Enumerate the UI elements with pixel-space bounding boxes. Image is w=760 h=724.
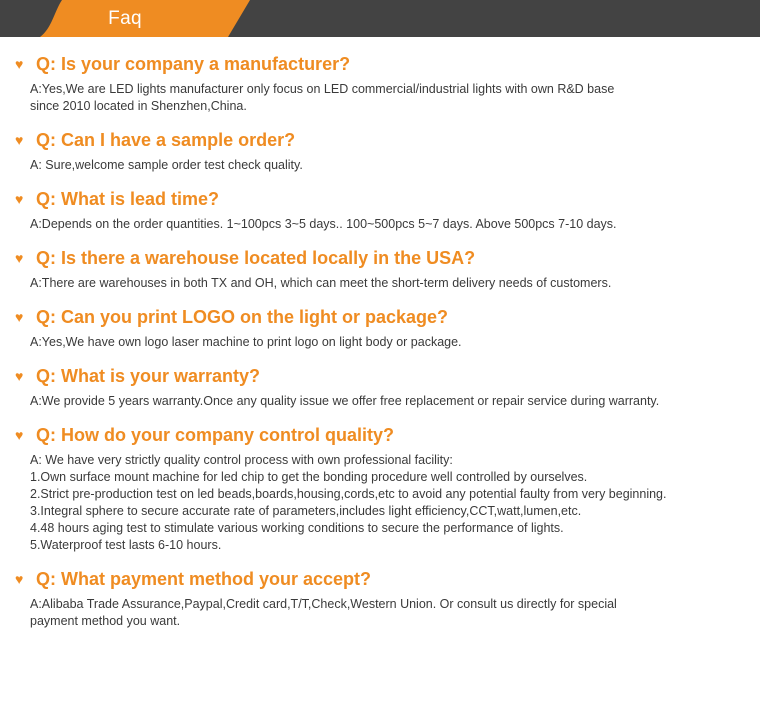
faq-question: Q: Can you print LOGO on the light or pa…: [36, 306, 448, 328]
answer-line: A:Yes,We are LED lights manufacturer onl…: [30, 81, 746, 98]
answer-line: A:Yes,We have own logo laser machine to …: [30, 334, 746, 351]
spacer: [0, 351, 760, 365]
spacer: [0, 554, 760, 568]
faq-item: ♥ Q: Can you print LOGO on the light or …: [0, 306, 760, 351]
faq-answer: A:There are warehouses in both TX and OH…: [30, 275, 746, 292]
answer-line: 2.Strict pre-production test on led bead…: [30, 486, 746, 503]
spacer: [0, 292, 760, 306]
faq-answer: A: We have very strictly quality control…: [30, 452, 746, 554]
faq-answer: A:Yes,We have own logo laser machine to …: [30, 334, 746, 351]
answer-line: A:There are warehouses in both TX and OH…: [30, 275, 746, 292]
faq-question-row: ♥ Q: Can I have a sample order?: [15, 129, 746, 151]
heart-icon: ♥: [15, 306, 36, 328]
answer-line: A: Sure,welcome sample order test check …: [30, 157, 746, 174]
faq-question-row: ♥ Q: Is your company a manufacturer?: [15, 53, 746, 75]
faq-question: Q: What payment method your accept?: [36, 568, 371, 590]
faq-item: ♥ Q: What payment method your accept? A:…: [0, 568, 760, 630]
answer-line: 1.Own surface mount machine for led chip…: [30, 469, 746, 486]
heart-icon: ♥: [15, 365, 36, 387]
spacer: [0, 233, 760, 247]
heart-icon: ♥: [15, 53, 36, 75]
faq-question: Q: How do your company control quality?: [36, 424, 394, 446]
faq-item: ♥ Q: Is there a warehouse located locall…: [0, 247, 760, 292]
faq-question-row: ♥ Q: What is your warranty?: [15, 365, 746, 387]
answer-line: 3.Integral sphere to secure accurate rat…: [30, 503, 746, 520]
answer-line: since 2010 located in Shenzhen,China.: [30, 98, 746, 115]
faq-question-row: ♥ Q: What is lead time?: [15, 188, 746, 210]
faq-item: ♥ Q: What is lead time? A:Depends on the…: [0, 188, 760, 233]
spacer: [0, 410, 760, 424]
faq-question: Q: What is lead time?: [36, 188, 219, 210]
spacer: [0, 115, 760, 129]
faq-item: ♥ Q: Is your company a manufacturer? A:Y…: [0, 53, 760, 115]
faq-question: Q: Is there a warehouse located locally …: [36, 247, 475, 269]
answer-line: A:We provide 5 years warranty.Once any q…: [30, 393, 746, 410]
page-title: Faq: [0, 0, 250, 37]
answer-line: payment method you want.: [30, 613, 746, 630]
answer-line: A:Alibaba Trade Assurance,Paypal,Credit …: [30, 596, 746, 613]
answer-line: A:Depends on the order quantities. 1~100…: [30, 216, 746, 233]
faq-banner: Faq: [0, 0, 760, 37]
faq-list: ♥ Q: Is your company a manufacturer? A:Y…: [0, 37, 760, 630]
faq-answer: A:Yes,We are LED lights manufacturer onl…: [30, 81, 746, 115]
faq-answer: A:Alibaba Trade Assurance,Paypal,Credit …: [30, 596, 746, 630]
answer-line: 4.48 hours aging test to stimulate vario…: [30, 520, 746, 537]
faq-question: Q: Is your company a manufacturer?: [36, 53, 350, 75]
heart-icon: ♥: [15, 188, 36, 210]
faq-question-row: ♥ Q: Is there a warehouse located locall…: [15, 247, 746, 269]
answer-line: A: We have very strictly quality control…: [30, 452, 746, 469]
answer-line: 5.Waterproof test lasts 6-10 hours.: [30, 537, 746, 554]
faq-item: ♥ Q: Can I have a sample order? A: Sure,…: [0, 129, 760, 174]
faq-question: Q: Can I have a sample order?: [36, 129, 295, 151]
heart-icon: ♥: [15, 247, 36, 269]
faq-question-row: ♥ Q: How do your company control quality…: [15, 424, 746, 446]
faq-item: ♥ Q: How do your company control quality…: [0, 424, 760, 554]
faq-question: Q: What is your warranty?: [36, 365, 260, 387]
spacer: [0, 174, 760, 188]
heart-icon: ♥: [15, 129, 36, 151]
heart-icon: ♥: [15, 424, 36, 446]
faq-question-row: ♥ Q: Can you print LOGO on the light or …: [15, 306, 746, 328]
heart-icon: ♥: [15, 568, 36, 590]
faq-answer: A:Depends on the order quantities. 1~100…: [30, 216, 746, 233]
spacer-top: [0, 37, 760, 53]
faq-question-row: ♥ Q: What payment method your accept?: [15, 568, 746, 590]
faq-answer: A:We provide 5 years warranty.Once any q…: [30, 393, 746, 410]
faq-answer: A: Sure,welcome sample order test check …: [30, 157, 746, 174]
faq-item: ♥ Q: What is your warranty? A:We provide…: [0, 365, 760, 410]
